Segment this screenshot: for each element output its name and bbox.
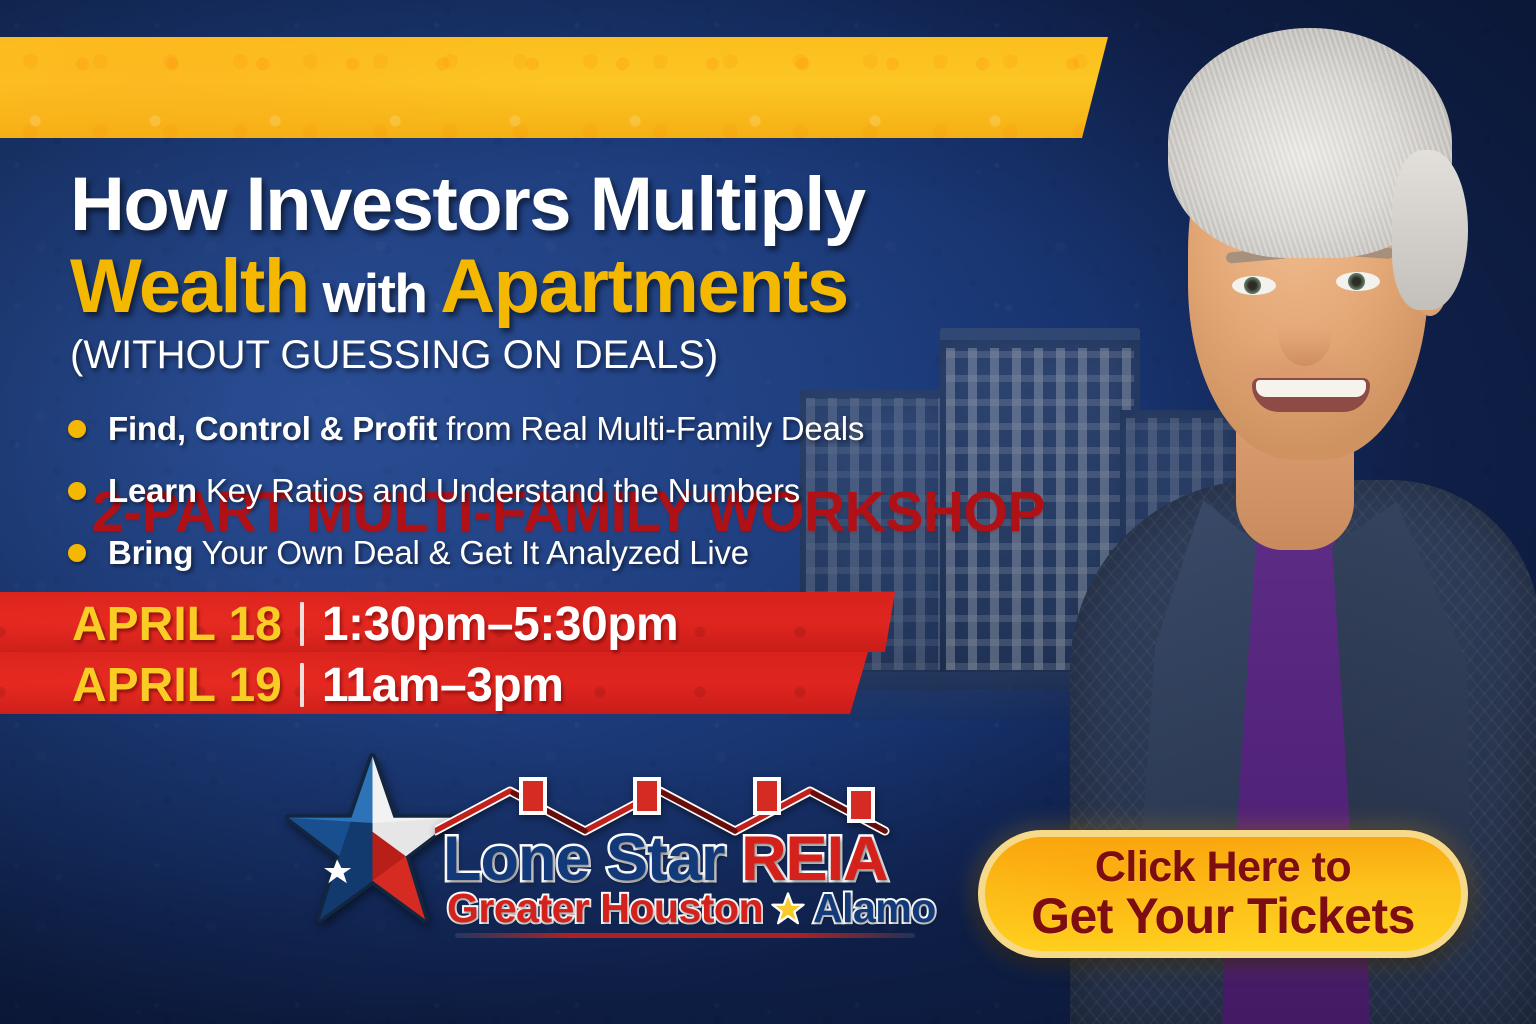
get-tickets-button[interactable]: Click Here to Get Your Tickets <box>978 830 1468 958</box>
headline-with: with <box>309 262 441 324</box>
bullet-dot-icon <box>68 544 86 562</box>
logo-alamo: Alamo <box>813 885 936 932</box>
list-item-rest: from Real Multi-Family Deals <box>437 410 864 447</box>
nose <box>1278 300 1332 366</box>
eye-right <box>1336 272 1380 291</box>
list-item-text: Bring Your Own Deal & Get It Analyzed Li… <box>108 534 749 572</box>
event-date: APRIL 18 <box>72 597 282 652</box>
list-item: Learn Key Ratios and Understand the Numb… <box>68 464 1008 517</box>
lone-star-reia-logo: Lone Star REIA Greater Houston Alamo <box>275 745 925 945</box>
event-time: 11am–3pm <box>322 658 564 713</box>
subheadline: (WITHOUT GUESSING ON DEALS) <box>70 333 718 378</box>
cta-line-2: Get Your Tickets <box>1031 890 1415 943</box>
cta-line-1: Click Here to <box>1095 845 1351 890</box>
logo-greater-houston: Greater Houston <box>447 885 763 932</box>
mouth <box>1252 378 1370 412</box>
bullet-dot-icon <box>68 482 86 500</box>
hair-side <box>1392 150 1468 310</box>
texas-star-icon <box>285 753 460 928</box>
headline-group: How Investors Multiply Wealth with Apart… <box>70 168 1030 325</box>
event-date: APRIL 19 <box>72 658 282 713</box>
list-item-bold: Learn <box>108 472 197 509</box>
headline-line-2: Wealth with Apartments <box>70 250 1030 324</box>
gold-star-icon <box>771 892 805 926</box>
list-item-text: Learn Key Ratios and Understand the Numb… <box>108 472 800 510</box>
promotional-banner: 2-PART MULTI-FAMILY WORKSHOP How Investo… <box>0 0 1536 1024</box>
list-item-rest: Key Ratios and Understand the Numbers <box>197 472 800 509</box>
logo-chapters: Greater Houston Alamo <box>447 885 936 932</box>
list-item-bold: Find, Control & Profit <box>108 410 437 447</box>
logo-underline <box>455 933 915 938</box>
bullet-dot-icon <box>68 420 86 438</box>
iris <box>1244 277 1261 294</box>
iris <box>1348 273 1365 290</box>
date-separator <box>300 663 304 707</box>
list-item-text: Find, Control & Profit from Real Multi-F… <box>108 410 864 448</box>
list-item-rest: Your Own Deal & Get It Analyzed Live <box>193 534 749 571</box>
event-date-row: APRIL 19 11am–3pm <box>72 657 563 713</box>
workshop-banner <box>0 37 1108 138</box>
logo-reia: REIA <box>741 824 888 894</box>
event-time: 1:30pm–5:30pm <box>322 597 678 652</box>
list-item: Find, Control & Profit from Real Multi-F… <box>68 402 1008 455</box>
headline-line-1: How Investors Multiply <box>70 168 1030 242</box>
eye-left <box>1232 276 1276 295</box>
headline-apartments: Apartments <box>440 244 847 329</box>
list-item: Bring Your Own Deal & Get It Analyzed Li… <box>68 526 1008 579</box>
date-separator <box>300 602 304 646</box>
headline-wealth: Wealth <box>70 244 309 329</box>
benefits-list: Find, Control & Profit from Real Multi-F… <box>68 402 1008 588</box>
list-item-bold: Bring <box>108 534 193 571</box>
logo-lone-star: Lone Star <box>443 824 741 894</box>
teeth <box>1256 380 1366 397</box>
event-date-row: APRIL 18 1:30pm–5:30pm <box>72 596 678 652</box>
